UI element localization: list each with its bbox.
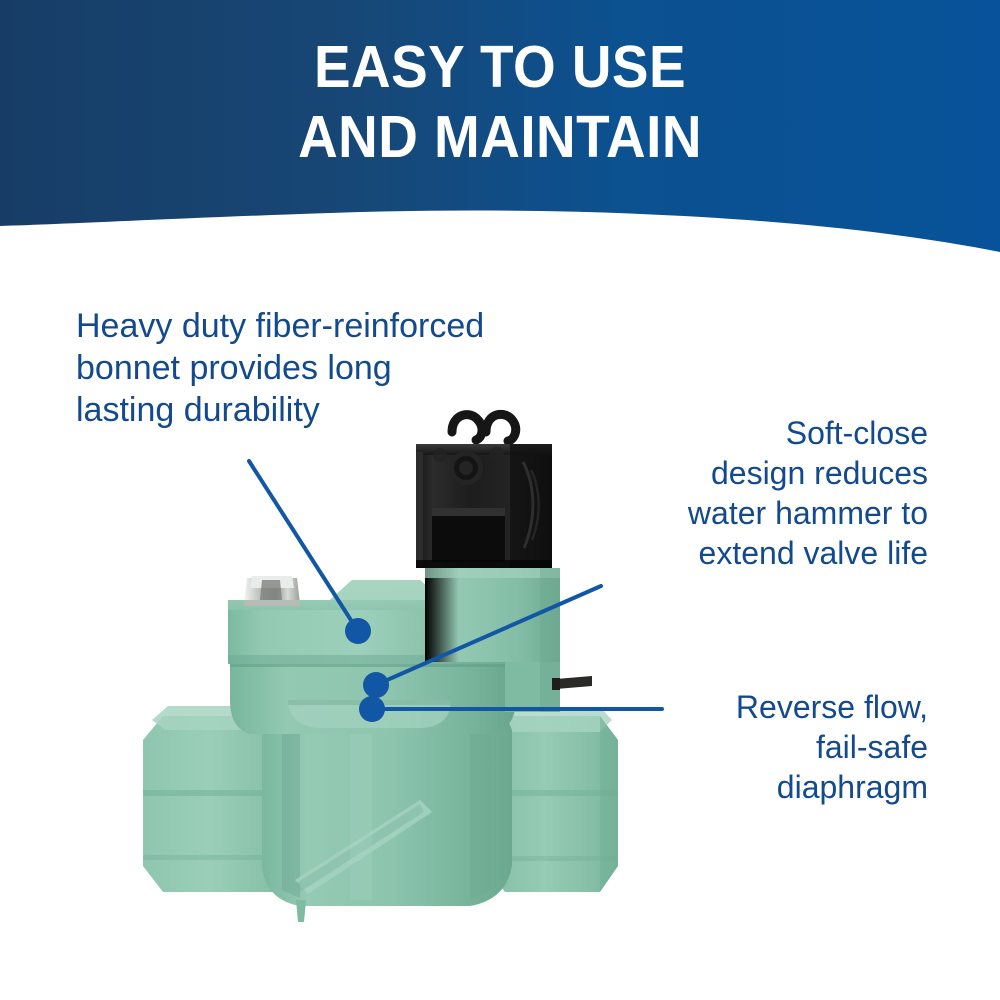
callout-text-diaphragm: Reverse flow, fail-safe diaphragm: [548, 687, 928, 807]
diaphragm-clamp-band: [230, 662, 516, 734]
infographic-root: EASY TO USE AND MAINTAIN: [0, 0, 1000, 1000]
bonnet-bolt-left: [244, 576, 300, 606]
callout-text-soft-close: Soft-close design reduces water hammer t…: [508, 413, 928, 573]
